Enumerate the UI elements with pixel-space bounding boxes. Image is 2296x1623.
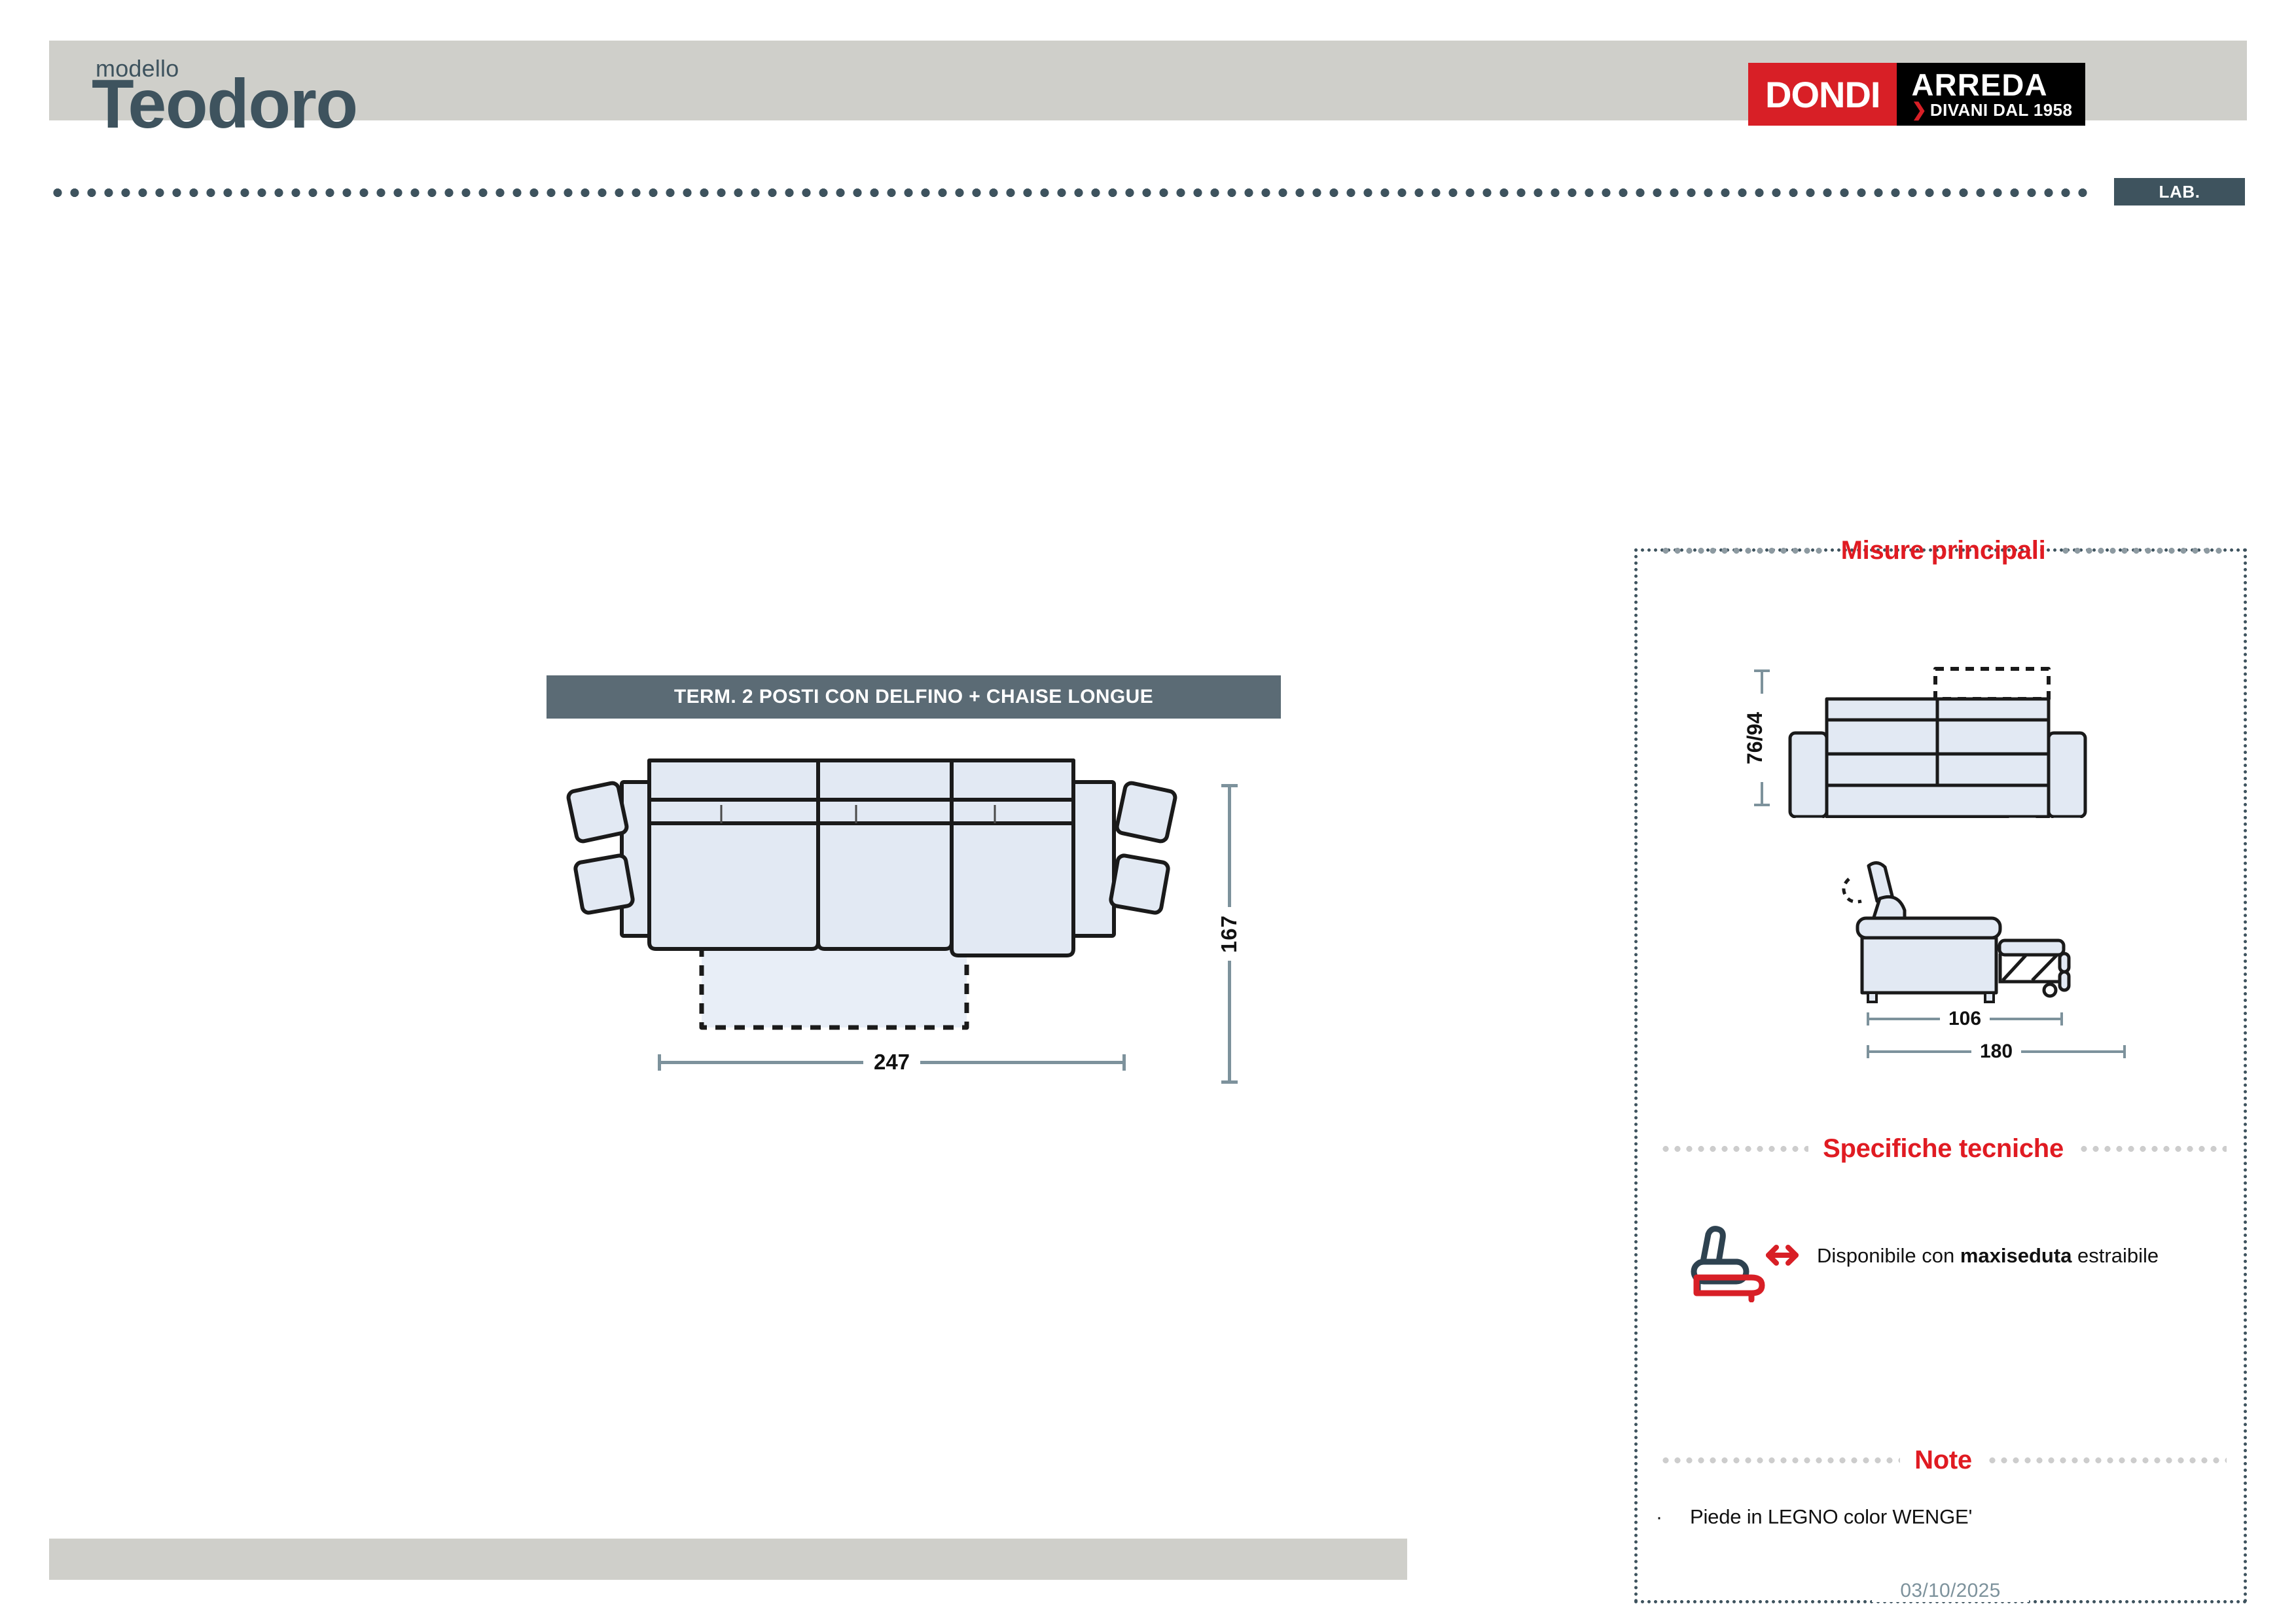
dimension-open-180: 180 xyxy=(1867,1044,2126,1060)
dimension-width-247: 247 xyxy=(658,1052,1126,1072)
brand-tagline-row: ❯ DIVANI DAL 1958 xyxy=(1911,101,2072,119)
lab-badge: LAB. xyxy=(2114,178,2245,205)
dimension-width-value: 247 xyxy=(863,1050,920,1075)
brand-tagline-text: DIVANI DAL 1958 xyxy=(1930,101,2072,118)
svg-text:76/94: 76/94 xyxy=(1743,712,1767,764)
bottom-gray-bar xyxy=(49,1539,1407,1580)
heading-specifiche-tecniche: Specifiche tecniche xyxy=(1660,1134,2227,1164)
variant-title-bar: TERM. 2 POSTI CON DELFINO + CHAISE LONGU… xyxy=(547,675,1281,719)
sofa-topview-drawing xyxy=(550,753,1309,1093)
date-stamp: 03/10/2025 xyxy=(1872,1580,2029,1602)
spec-text-bold: maxiseduta xyxy=(1960,1244,2072,1267)
brand-logo: DONDI ARREDA ❯ DIVANI DAL 1958 xyxy=(1748,63,2085,126)
dimension-106-value: 106 xyxy=(1940,1008,1990,1030)
dim-bar-bottom xyxy=(1228,961,1231,1080)
header-dotted-rule xyxy=(49,188,2091,197)
spec-row-maxiseduta: Disponibile con maxiseduta estraibile xyxy=(1689,1225,2212,1306)
heading-dots-right xyxy=(2060,548,2227,554)
heading-specifiche-text: Specifiche tecniche xyxy=(1823,1134,2064,1164)
spec-text: Disponibile con maxiseduta estraibile xyxy=(1817,1225,2159,1270)
dimension-180-value: 180 xyxy=(1971,1041,2021,1063)
dimension-depth-167: 167 xyxy=(1219,784,1240,1084)
heading-dots-right xyxy=(1986,1457,2227,1463)
spec-text-pre: Disponibile con xyxy=(1817,1244,1960,1267)
dimension-depth-value: 167 xyxy=(1217,907,1242,961)
dim-cap-right xyxy=(2123,1045,2126,1058)
heading-dots-right xyxy=(2078,1146,2227,1152)
sofa-extendable-seat-icon xyxy=(1689,1225,1800,1306)
dim-bar-right xyxy=(920,1061,1122,1064)
heading-dots-left xyxy=(1660,548,1827,554)
brand-right-block: ARREDA ❯ DIVANI DAL 1958 xyxy=(1897,63,2085,126)
note-text: Piede in LEGNO color WENGE' xyxy=(1690,1505,1972,1529)
dim-bar-left xyxy=(1869,1050,1971,1053)
dim-cap-right xyxy=(1122,1054,1126,1071)
note-bullet-icon: · xyxy=(1656,1508,1662,1527)
dim-cap-right xyxy=(2060,1012,2063,1026)
dim-bar-right xyxy=(1990,1018,2060,1020)
heading-dots-left xyxy=(1660,1457,1900,1463)
dim-cap-bottom xyxy=(1221,1080,1238,1084)
model-name: Teodoro xyxy=(92,69,357,139)
dim-bar-left xyxy=(661,1061,863,1064)
dim-bar-top xyxy=(1228,787,1231,907)
heading-misure-text: Misure principali xyxy=(1841,536,2046,565)
note-row: · Piede in LEGNO color WENGE' xyxy=(1656,1505,2219,1529)
brand-dondi-text: DONDI xyxy=(1748,63,1897,126)
heading-note: Note xyxy=(1660,1446,2227,1475)
sofa-front-elevation-drawing: 76/94 xyxy=(1734,654,2127,821)
dim-bar-right xyxy=(2021,1050,2123,1053)
heading-note-text: Note xyxy=(1914,1446,1972,1475)
heading-misure-principali: Misure principali xyxy=(1660,536,2227,565)
dim-bar-left xyxy=(1869,1018,1940,1020)
chevron-right-icon: ❯ xyxy=(1911,101,1926,119)
dimension-depth-106: 106 xyxy=(1867,1011,2063,1027)
spec-text-post: estraibile xyxy=(2072,1244,2159,1267)
heading-dots-left xyxy=(1660,1146,1808,1152)
brand-arreda-text: ARREDA xyxy=(1911,71,2072,99)
sofa-side-elevation-drawing xyxy=(1800,841,2101,1021)
